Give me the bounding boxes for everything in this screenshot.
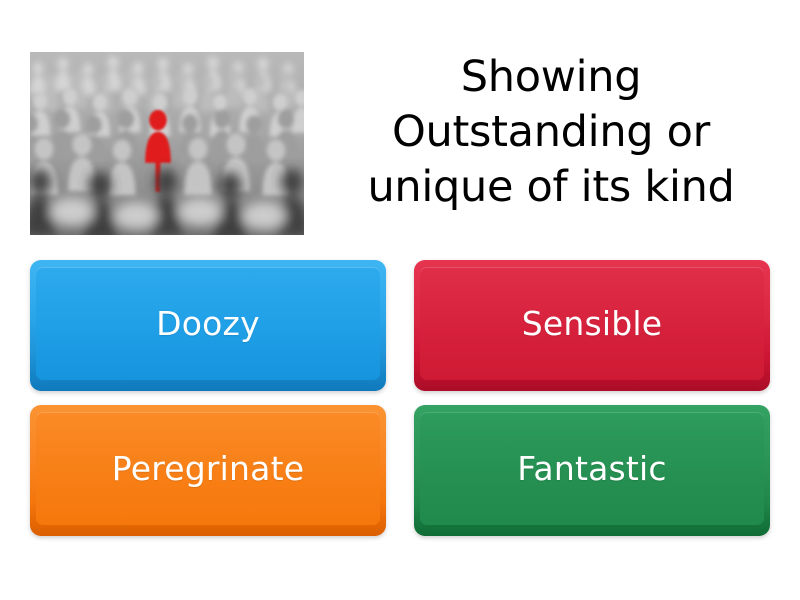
question-line-3: unique of its kind [326, 160, 776, 215]
crowd-illustration [30, 52, 304, 235]
answers-grid: Doozy Sensible Peregrinate Fantastic [30, 260, 770, 538]
question-line-1: Showing [326, 50, 776, 105]
question-line-2: Outstanding or [326, 105, 776, 160]
answer-button-peregrinate[interactable]: Peregrinate [30, 405, 386, 536]
answer-button-doozy[interactable]: Doozy [30, 260, 386, 391]
button-face [420, 412, 764, 525]
question-area: Showing Outstanding or unique of its kin… [0, 0, 800, 250]
button-face [36, 412, 380, 525]
answer-button-fantastic[interactable]: Fantastic [414, 405, 770, 536]
crowd-standout-image [30, 52, 304, 235]
quiz-screen: Showing Outstanding or unique of its kin… [0, 0, 800, 600]
button-face [36, 267, 380, 380]
question-text: Showing Outstanding or unique of its kin… [326, 50, 776, 215]
answer-button-sensible[interactable]: Sensible [414, 260, 770, 391]
button-face [420, 267, 764, 380]
